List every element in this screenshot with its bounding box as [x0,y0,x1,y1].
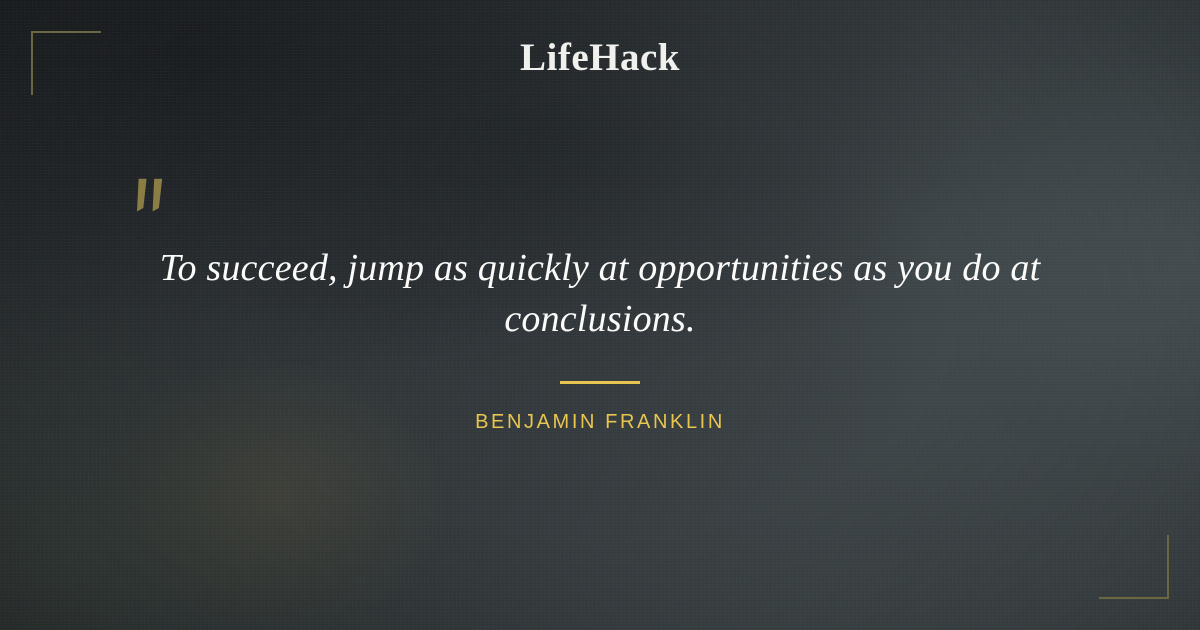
quote-card: LifeHack To succeed, jump as quickly at … [0,0,1200,630]
divider-rule [560,381,640,384]
quote-text: To succeed, jump as quickly at opportuni… [110,243,1090,344]
quote-author: BENJAMIN FRANKLIN [0,412,1200,432]
corner-bracket-bottom-right-icon [1099,535,1169,599]
quote-mark-icon [134,178,168,214]
brand-logo: LifeHack [0,38,1200,77]
